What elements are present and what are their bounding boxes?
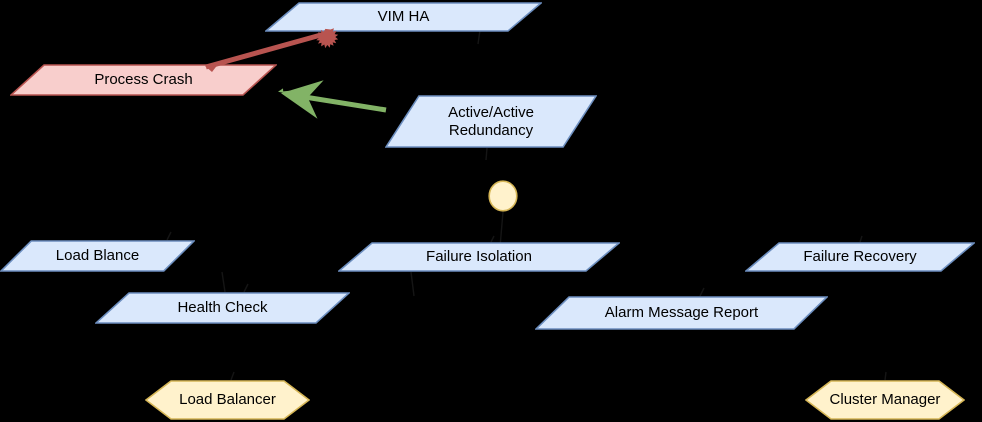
shape-parallelogram [10,64,277,96]
shape-hexagon [145,380,310,420]
shape-hexagon [805,380,965,420]
diagram-canvas: VIM HAProcess CrashActive/Active Redunda… [0,0,982,422]
shape-parallelogram [95,292,350,324]
edge-redundancy-to-process-crash [278,88,386,110]
node-load-balancer[interactable]: Load Balancer [145,380,310,420]
node-alarm-message-report[interactable]: Alarm Message Report [535,296,828,330]
shape-parallelogram [338,242,620,272]
shape-parallelogram [0,240,195,272]
node-health-check[interactable]: Health Check [95,292,350,324]
node-active-active-redundancy[interactable]: Active/Active Redundancy [385,95,597,148]
node-failure-recovery[interactable]: Failure Recovery [745,242,975,272]
node-vim-ha[interactable]: VIM HA [265,2,542,32]
node-failure-isolation[interactable]: Failure Isolation [338,242,620,272]
node-state-circle[interactable] [488,180,518,212]
shape-ellipse [488,180,518,212]
shape-parallelogram [535,296,828,330]
shape-parallelogram [745,242,975,272]
node-process-crash[interactable]: Process Crash [10,64,277,96]
shape-parallelogram [265,2,542,32]
node-load-blance[interactable]: Load Blance [0,240,195,272]
node-cluster-manager[interactable]: Cluster Manager [805,380,965,420]
shape-parallelogram [385,95,597,148]
